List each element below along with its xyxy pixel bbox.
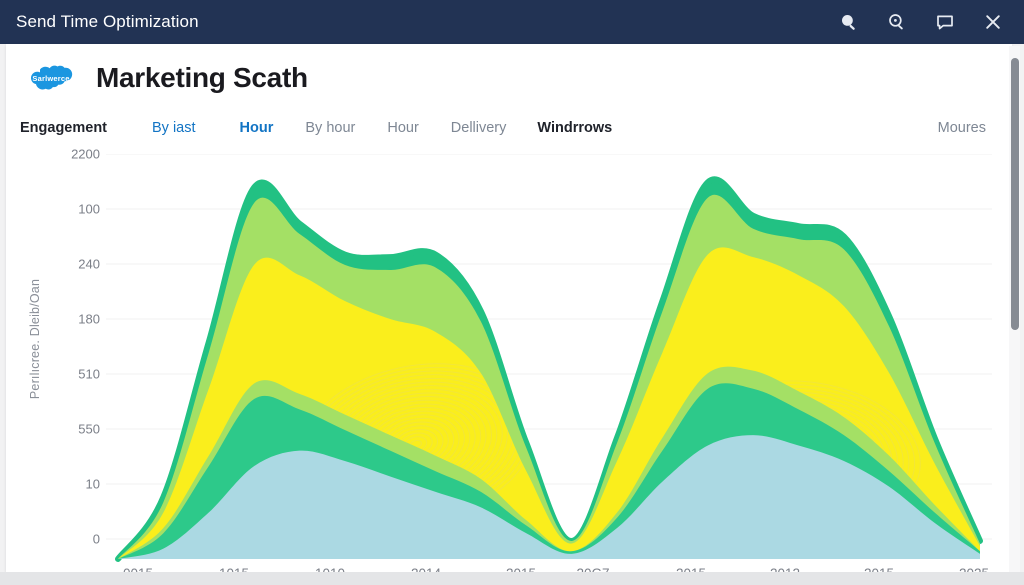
tab-windrrows[interactable]: Windrrows [537, 120, 612, 136]
y-axis-tick-label: 10 [54, 477, 100, 492]
y-axis-tick-label: 510 [54, 367, 100, 382]
search-icon[interactable] [838, 11, 860, 33]
y-axis-tick-label: 2200 [54, 147, 100, 162]
content-card: Sarlwerce Marketing Scath Engagement By … [6, 44, 1012, 572]
area-chart-svg [106, 154, 992, 572]
zoom-search-icon[interactable] [886, 11, 908, 33]
logo-text: Sarlwerce [20, 60, 82, 96]
tab-bar: Engagement By iast Hour By hour Hour Del… [20, 120, 986, 136]
header-icon-group [838, 11, 1004, 33]
app-header-bar: Send Time Optimization [0, 0, 1024, 44]
tab-moures[interactable]: Moures [938, 120, 986, 136]
tab-engagement[interactable]: Engagement [20, 120, 107, 136]
tab-by-hour[interactable]: By hour [305, 120, 355, 136]
app-title: Send Time Optimization [16, 12, 199, 32]
window-bottom-strip [0, 572, 1024, 585]
chart-area: Perılıcree. Dleib/Oan 220010024018051055… [6, 154, 1012, 572]
page-title: Marketing Scath [96, 62, 308, 94]
y-axis-tick-label: 180 [54, 312, 100, 327]
tab-hour-2[interactable]: Hour [387, 120, 418, 136]
stacked-area-plot [106, 154, 992, 572]
close-icon[interactable] [982, 11, 1004, 33]
tab-by-iast[interactable]: By iast [152, 120, 196, 136]
y-axis-tick-label: 240 [54, 257, 100, 272]
salesforce-cloud-logo-icon: Sarlwerce [20, 60, 82, 96]
app-window: Send Time Optimization [0, 0, 1024, 585]
y-axis-tick-label: 550 [54, 422, 100, 437]
y-axis-ticks: 2200100240180510550100 [20, 154, 100, 572]
y-axis-tick-label: 0 [54, 532, 100, 547]
y-axis-tick-label: 100 [54, 202, 100, 217]
tab-hour[interactable]: Hour [240, 120, 274, 136]
tab-dellivery[interactable]: Dellivery [451, 120, 507, 136]
comment-icon[interactable] [934, 11, 956, 33]
vertical-scrollbar-thumb[interactable] [1011, 58, 1019, 330]
brand-row: Sarlwerce Marketing Scath [20, 60, 308, 96]
